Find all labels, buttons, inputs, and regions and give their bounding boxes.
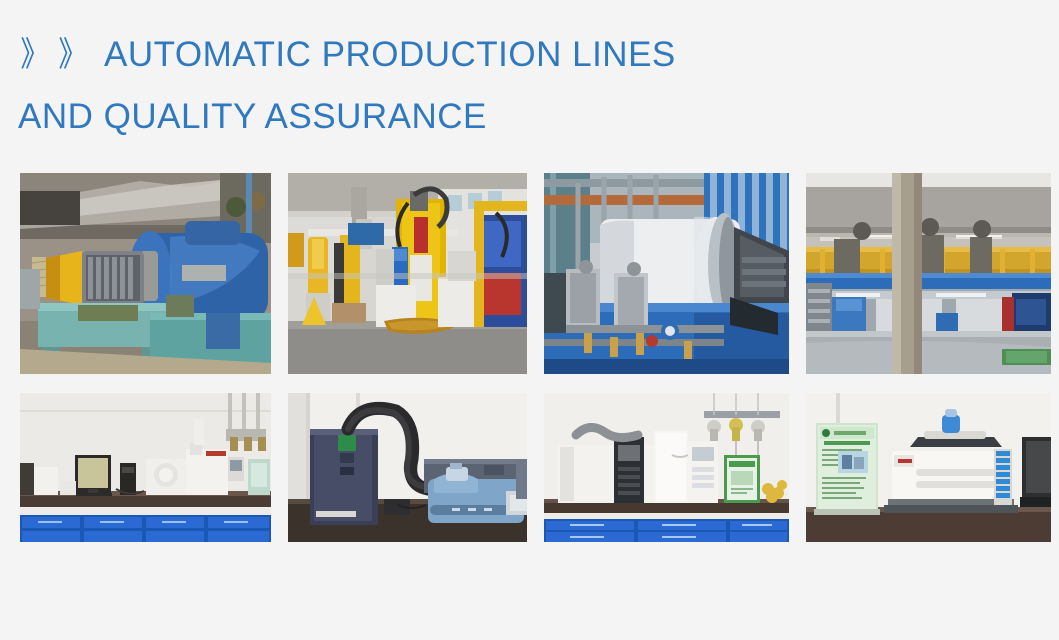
gallery-row-quality-assurance bbox=[20, 393, 1040, 542]
gallery-image-production-line-white-autoclave[interactable] bbox=[544, 173, 789, 374]
gallery-image-lab-spectrometer[interactable] bbox=[806, 393, 1051, 542]
chevron-right-icon-1: 》 bbox=[20, 38, 47, 72]
gallery-image-production-line-yellow-press[interactable] bbox=[288, 173, 527, 374]
page-title-text-1: AUTOMATIC PRODUCTION LINES bbox=[104, 35, 676, 74]
gallery-row-production-lines bbox=[20, 173, 1040, 374]
photo-factory-yellow-press bbox=[288, 173, 527, 374]
page-root: 》》 AUTOMATIC PRODUCTION LINES AND QUALIT… bbox=[0, 0, 1059, 640]
gallery-image-lab-bench-gc-ms[interactable] bbox=[20, 393, 271, 542]
chevron-right-icon-2: 》 bbox=[58, 38, 85, 72]
image-gallery bbox=[20, 173, 1040, 542]
page-title-text-2: AND QUALITY ASSURANCE bbox=[18, 97, 487, 136]
gallery-image-lab-gas-chromatograph[interactable] bbox=[544, 393, 789, 542]
page-title: 》》 AUTOMATIC PRODUCTION LINES AND QUALIT… bbox=[18, 24, 918, 148]
photo-white-autoclave bbox=[544, 173, 789, 374]
page-title-line-1: 》》 AUTOMATIC PRODUCTION LINES bbox=[18, 24, 918, 86]
photo-chiller-and-analyzer bbox=[288, 393, 527, 542]
photo-industrial-blue-vessel bbox=[20, 173, 271, 374]
gallery-image-lab-chiller-analyzer[interactable] bbox=[288, 393, 527, 542]
page-title-line-2: AND QUALITY ASSURANCE bbox=[18, 86, 918, 148]
photo-gas-chromatograph bbox=[544, 393, 789, 542]
photo-bench-spectrometer bbox=[806, 393, 1051, 542]
gallery-image-production-line-blue-vessel[interactable] bbox=[20, 173, 271, 374]
photo-plant-interior bbox=[806, 173, 1051, 374]
photo-lab-bench-instruments bbox=[20, 393, 271, 542]
double-chevron-icon: 》》 bbox=[18, 24, 88, 86]
gallery-image-production-line-plant-interior[interactable] bbox=[806, 173, 1051, 374]
